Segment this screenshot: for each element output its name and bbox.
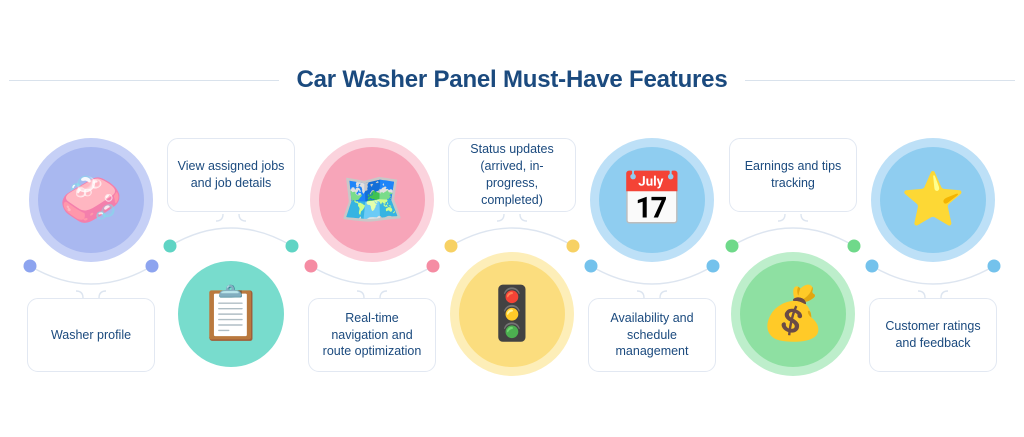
world-map-icon: 🗺️ [340,174,405,226]
feature-label-box-customer-ratings[interactable]: Customer ratings and feedback [869,298,997,372]
clipboard-icon: 📋 [199,288,264,340]
feature-item-real-time-navigation[interactable]: 🗺️Real-time navigation and route optimiz… [301,130,443,390]
circle-fill: 🗺️ [319,147,425,253]
feature-items-container: 🧼Washer profile📋View assigned jobs and j… [0,130,1024,390]
soap-icon: 🧼 [59,174,124,226]
feature-label-box-status-updates[interactable]: Status updates (arrived, in-progress, co… [448,138,576,212]
connector-view-assigned-jobs [160,208,302,254]
feature-label-box-real-time-navigation[interactable]: Real-time navigation and route optimizat… [308,298,436,372]
circle-fill: 💰 [740,261,846,367]
circle-fill: ⭐ [880,147,986,253]
title-rule-left [9,80,279,81]
feature-circle-view-assigned-jobs: 📋 [169,252,293,376]
feature-label-box-earnings-tips[interactable]: Earnings and tips tracking [729,138,857,212]
feature-label-washer-profile: Washer profile [51,327,131,344]
feature-label-earnings-tips: Earnings and tips tracking [737,158,849,192]
traffic-light-icon: 🚦 [480,288,545,340]
feature-circle-customer-ratings: ⭐ [871,138,995,262]
feature-label-availability-schedule: Availability and schedule management [596,310,708,361]
feature-item-customer-ratings[interactable]: ⭐Customer ratings and feedback [862,130,1004,390]
star-icon: ⭐ [901,174,966,226]
feature-item-washer-profile[interactable]: 🧼Washer profile [20,130,162,390]
page-title: Car Washer Panel Must-Have Features [297,66,728,94]
feature-item-status-updates[interactable]: 🚦Status updates (arrived, in-progress, c… [441,130,583,390]
circle-fill: 📅 [599,147,705,253]
feature-item-availability-schedule[interactable]: 📅Availability and schedule management [581,130,723,390]
feature-label-box-availability-schedule[interactable]: Availability and schedule management [588,298,716,372]
circle-fill: 🧼 [38,147,144,253]
feature-circle-real-time-navigation: 🗺️ [310,138,434,262]
page-title-row: Car Washer Panel Must-Have Features [0,62,1024,98]
feature-label-view-assigned-jobs: View assigned jobs and job details [175,158,287,192]
feature-circle-washer-profile: 🧼 [29,138,153,262]
feature-circle-earnings-tips: 💰 [731,252,855,376]
feature-label-status-updates: Status updates (arrived, in-progress, co… [456,141,568,209]
feature-label-box-view-assigned-jobs[interactable]: View assigned jobs and job details [167,138,295,212]
feature-label-box-washer-profile[interactable]: Washer profile [27,298,155,372]
infographic-canvas: Car Washer Panel Must-Have Features 🧼Was… [0,0,1024,437]
feature-label-real-time-navigation: Real-time navigation and route optimizat… [316,310,428,361]
feature-label-customer-ratings: Customer ratings and feedback [877,318,989,352]
feature-item-earnings-tips[interactable]: 💰Earnings and tips tracking [722,130,864,390]
calendar-icon: 📅 [620,174,685,226]
circle-fill: 🚦 [459,261,565,367]
circle-fill: 📋 [178,261,284,367]
feature-circle-status-updates: 🚦 [450,252,574,376]
title-rule-right [745,80,1015,81]
connector-earnings-tips [722,208,864,254]
connector-status-updates [441,208,583,254]
feature-item-view-assigned-jobs[interactable]: 📋View assigned jobs and job details [160,130,302,390]
money-bag-icon: 💰 [761,288,826,340]
feature-circle-availability-schedule: 📅 [590,138,714,262]
